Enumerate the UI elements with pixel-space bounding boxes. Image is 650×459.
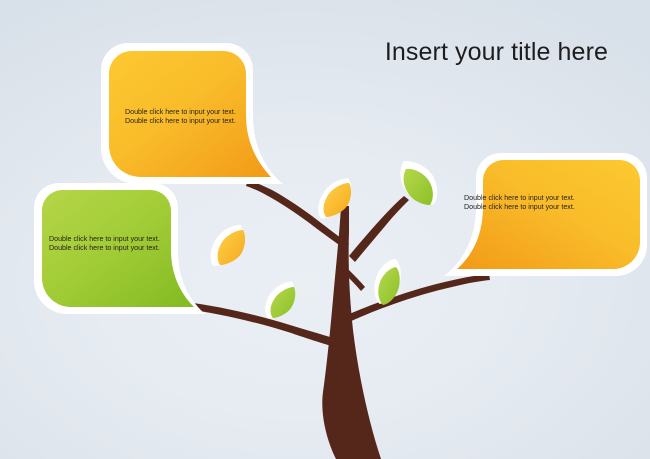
callout-text-line-1: Double click here to input your text. — [125, 108, 236, 117]
callout-text-line-2: Double click here to input your text. — [464, 203, 575, 212]
branch-right-lower — [345, 274, 490, 323]
callout-text-line-1: Double click here to input your text. — [49, 235, 160, 244]
page-title: Insert your title here — [385, 38, 608, 67]
callout-leaf-right-body — [457, 160, 640, 269]
callout-leaf-mid-left-text[interactable]: Double click here to input your text. Do… — [49, 235, 160, 253]
slide-canvas: Insert your title here Double click here… — [0, 0, 650, 459]
trunk — [322, 206, 381, 459]
small-orange-left-leaf — [211, 225, 245, 266]
tree-illustration — [0, 0, 650, 459]
callout-leaf-top-left-text[interactable]: Double click here to input your text. Do… — [125, 108, 236, 126]
callout-leaf-right[interactable] — [444, 153, 647, 276]
branch-right-upper — [349, 196, 409, 262]
callout-leaf-right-text[interactable]: Double click here to input your text. Do… — [464, 194, 575, 212]
callout-text-line-1: Double click here to input your text. — [464, 194, 575, 203]
small-green-lower-leaf — [265, 282, 295, 319]
callout-text-line-2: Double click here to input your text. — [125, 117, 236, 126]
callout-text-line-2: Double click here to input your text. — [49, 244, 160, 253]
